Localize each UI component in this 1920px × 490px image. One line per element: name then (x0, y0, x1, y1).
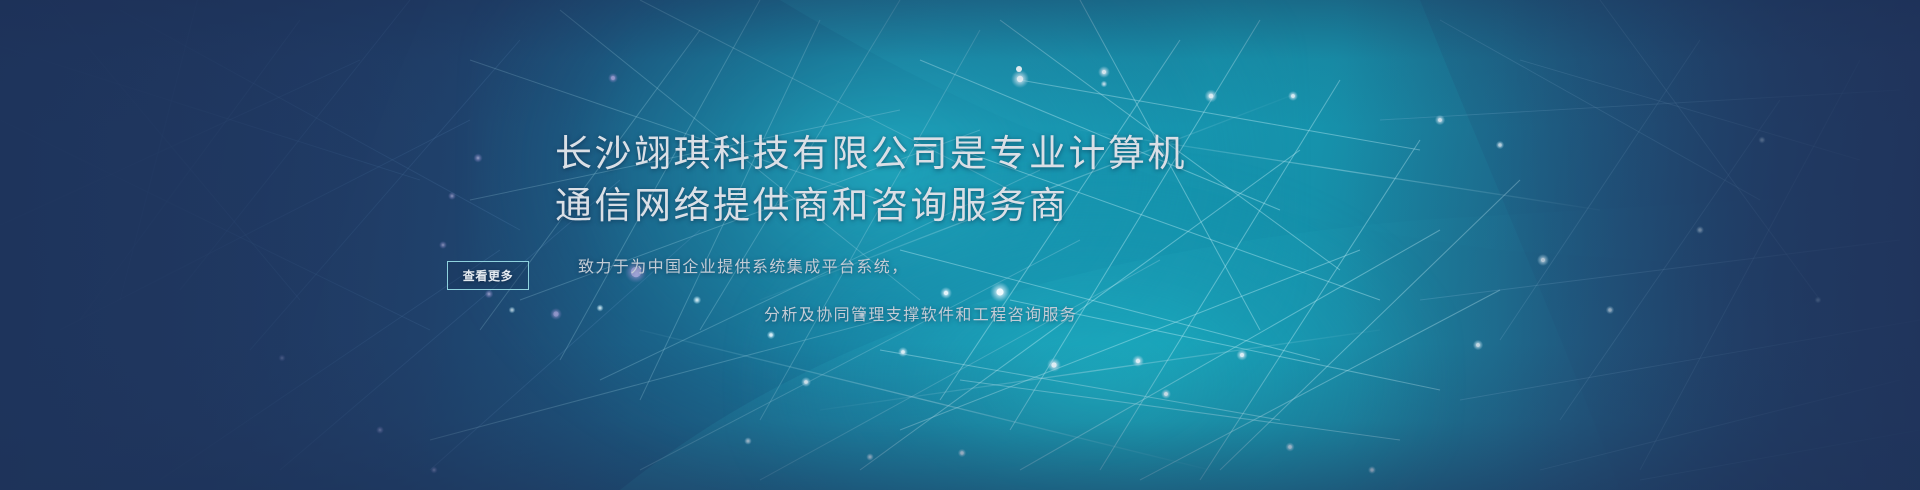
headline-line-2: 通信网络提供商和咨询服务商 (555, 180, 1187, 232)
view-more-button-label: 查看更多 (463, 267, 513, 284)
banner-subtitle: 致力于为中国企业提供系统集成平台系统， 分析及协同管理支撑软件和工程咨询服务 (578, 243, 1077, 339)
banner-headline: 长沙翊琪科技有限公司是专业计算机 通信网络提供商和咨询服务商 (555, 128, 1187, 232)
banner-content: 长沙翊琪科技有限公司是专业计算机 通信网络提供商和咨询服务商 致力于为中国企业提… (0, 0, 1920, 490)
headline-line-1: 长沙翊琪科技有限公司是专业计算机 (555, 128, 1187, 180)
hero-banner: 长沙翊琪科技有限公司是专业计算机 通信网络提供商和咨询服务商 致力于为中国企业提… (0, 0, 1920, 490)
subtitle-line-2: 分析及协同管理支撑软件和工程咨询服务 (764, 291, 1077, 339)
view-more-button[interactable]: 查看更多 (447, 261, 529, 290)
subtitle-line-1: 致力于为中国企业提供系统集成平台系统， (578, 243, 1077, 291)
